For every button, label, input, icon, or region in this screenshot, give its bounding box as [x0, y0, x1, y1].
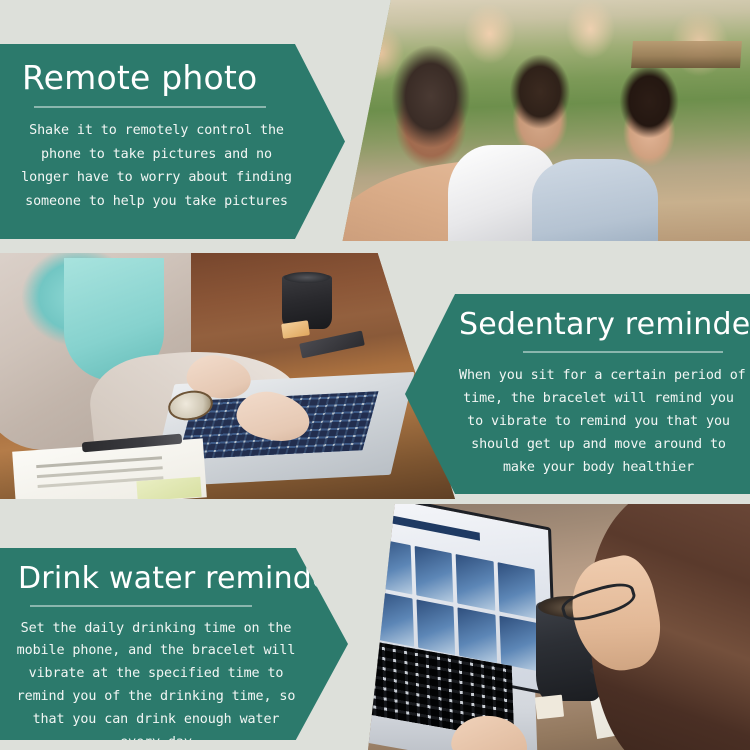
panel-title-drink-water-reminder: Drink water reminder — [16, 562, 296, 596]
thumbnail-tile — [416, 599, 455, 655]
photo-woman-typing-laptop — [0, 253, 455, 499]
thumbnail-tile — [497, 562, 536, 618]
text-block-sedentary-reminder: Sedentary reminder When you sit for a ce… — [405, 294, 750, 494]
thumbnail-tile — [456, 554, 495, 610]
body-line: time, the bracelet will remind you — [459, 387, 738, 410]
body-line: mobile phone, and the bracelet will — [16, 640, 296, 663]
title-divider-rule — [523, 351, 723, 353]
body-line: longer have to worry about finding — [20, 166, 293, 190]
body-line: someone to help you take pictures — [20, 190, 293, 214]
panel-body-remote-photo: Shake it to remotely control the phone t… — [20, 119, 293, 213]
photo-detail-tea-tag — [281, 320, 310, 338]
photo-woman-with-mug-laptop — [368, 504, 750, 750]
thumbnail-tile — [375, 591, 414, 647]
body-line: Set the daily drinking time on the — [16, 618, 296, 641]
panel-title-remote-photo: Remote photo — [20, 60, 293, 97]
title-divider-rule — [34, 106, 266, 108]
thumbnail-tile — [457, 607, 496, 663]
feature-panel-remote-photo: Remote photo Shake it to remotely contro… — [0, 0, 750, 248]
photo-detail-screen-header-bar — [373, 512, 480, 541]
text-block-remote-photo: Remote photo Shake it to remotely contro… — [0, 44, 345, 239]
photo-detail-sticky-note — [136, 477, 201, 499]
text-block-drink-water-reminder: Drink water reminder Set the daily drink… — [0, 548, 348, 740]
photo-detail-garden-table — [631, 41, 742, 68]
body-line: to vibrate to remind you that you — [459, 410, 738, 433]
photo-group-selfie — [330, 0, 750, 241]
panel-body-drink-water-reminder: Set the daily drinking time on the mobil… — [16, 618, 296, 750]
feature-panel-drink-water-reminder: Drink water reminder Set the daily drink… — [0, 504, 750, 750]
panel-body-sedentary-reminder: When you sit for a certain period of tim… — [459, 364, 738, 480]
feature-panel-sedentary-reminder: Sedentary reminder When you sit for a ce… — [0, 248, 750, 504]
body-line: every day — [16, 732, 296, 750]
body-line: remind you of the drinking time, so — [16, 686, 296, 709]
photo-detail-blue-shirt — [532, 159, 658, 241]
panel-title-sedentary-reminder: Sedentary reminder — [459, 308, 738, 342]
body-line: Shake it to remotely control the — [20, 119, 293, 143]
body-line: that you can drink enough water — [16, 709, 296, 732]
photo-detail-tea-bag-label — [535, 695, 564, 720]
thumbnail-tile — [374, 538, 413, 594]
body-line: phone to take pictures and no — [20, 143, 293, 167]
body-line: should get up and move around to — [459, 433, 738, 456]
title-divider-rule — [30, 605, 252, 607]
body-line: When you sit for a certain period of — [459, 364, 738, 387]
product-feature-infographic: Remote photo Shake it to remotely contro… — [0, 0, 750, 750]
body-line: vibrate at the specified time to — [16, 663, 296, 686]
body-line: make your body healthier — [459, 456, 738, 479]
thumbnail-tile — [499, 615, 538, 671]
thumbnail-tile — [415, 546, 454, 602]
